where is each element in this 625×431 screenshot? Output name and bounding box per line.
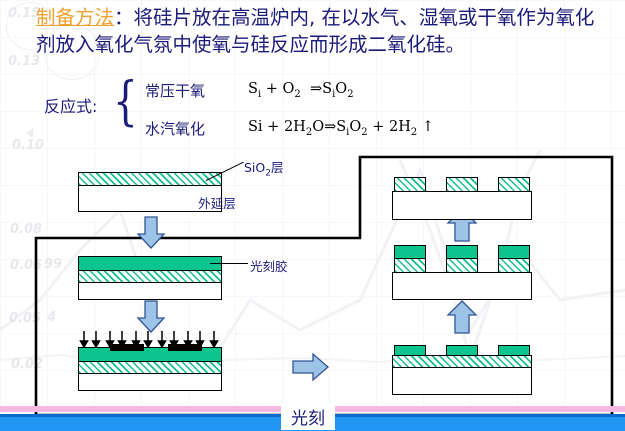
step5-resist-island-3 bbox=[498, 245, 530, 259]
step1-oxide-layer bbox=[78, 172, 222, 186]
step4-oxide-layer bbox=[392, 355, 532, 368]
photoresist-label: 光刻胶 bbox=[250, 256, 288, 275]
step5-resist-island-1 bbox=[394, 245, 426, 259]
arrow-right-icon bbox=[292, 352, 330, 382]
photomask-chrome-2 bbox=[168, 344, 202, 351]
oxide-layer-label: SiO2层 bbox=[244, 157, 284, 179]
step4-resist-island-2 bbox=[446, 345, 478, 356]
step5-substrate bbox=[392, 272, 532, 300]
step6-substrate bbox=[392, 191, 532, 220]
step5-oxide-pillar-2 bbox=[446, 258, 478, 273]
arrow-up-1-icon bbox=[446, 300, 478, 336]
step6-oxide-pillar-3 bbox=[498, 177, 530, 192]
step4-resist-island-3 bbox=[498, 345, 530, 356]
step4-resist-island-1 bbox=[394, 345, 426, 356]
photomask-chrome-1 bbox=[110, 344, 144, 351]
arrow-down-1-icon bbox=[136, 216, 166, 250]
step2-oxide-layer bbox=[78, 270, 222, 283]
step6-oxide-pillar-2 bbox=[446, 177, 478, 192]
step5-oxide-pillar-3 bbox=[498, 258, 530, 273]
step2-photoresist-layer bbox=[78, 256, 222, 271]
step5-oxide-pillar-1 bbox=[394, 258, 426, 273]
slide-canvas: 0.15 0.13 0.10 0.08 0.06 99 0.05 4 0.02 … bbox=[0, 0, 625, 431]
step1-epi-label: 外延层 bbox=[145, 193, 289, 212]
slide-caption: 光刻 bbox=[281, 403, 335, 430]
photoresist-leader-line bbox=[210, 263, 248, 264]
step6-oxide-pillar-1 bbox=[394, 177, 426, 192]
step5-resist-island-2 bbox=[446, 245, 478, 259]
arrow-down-2-icon bbox=[136, 300, 166, 334]
step3-oxide-layer bbox=[78, 361, 222, 374]
